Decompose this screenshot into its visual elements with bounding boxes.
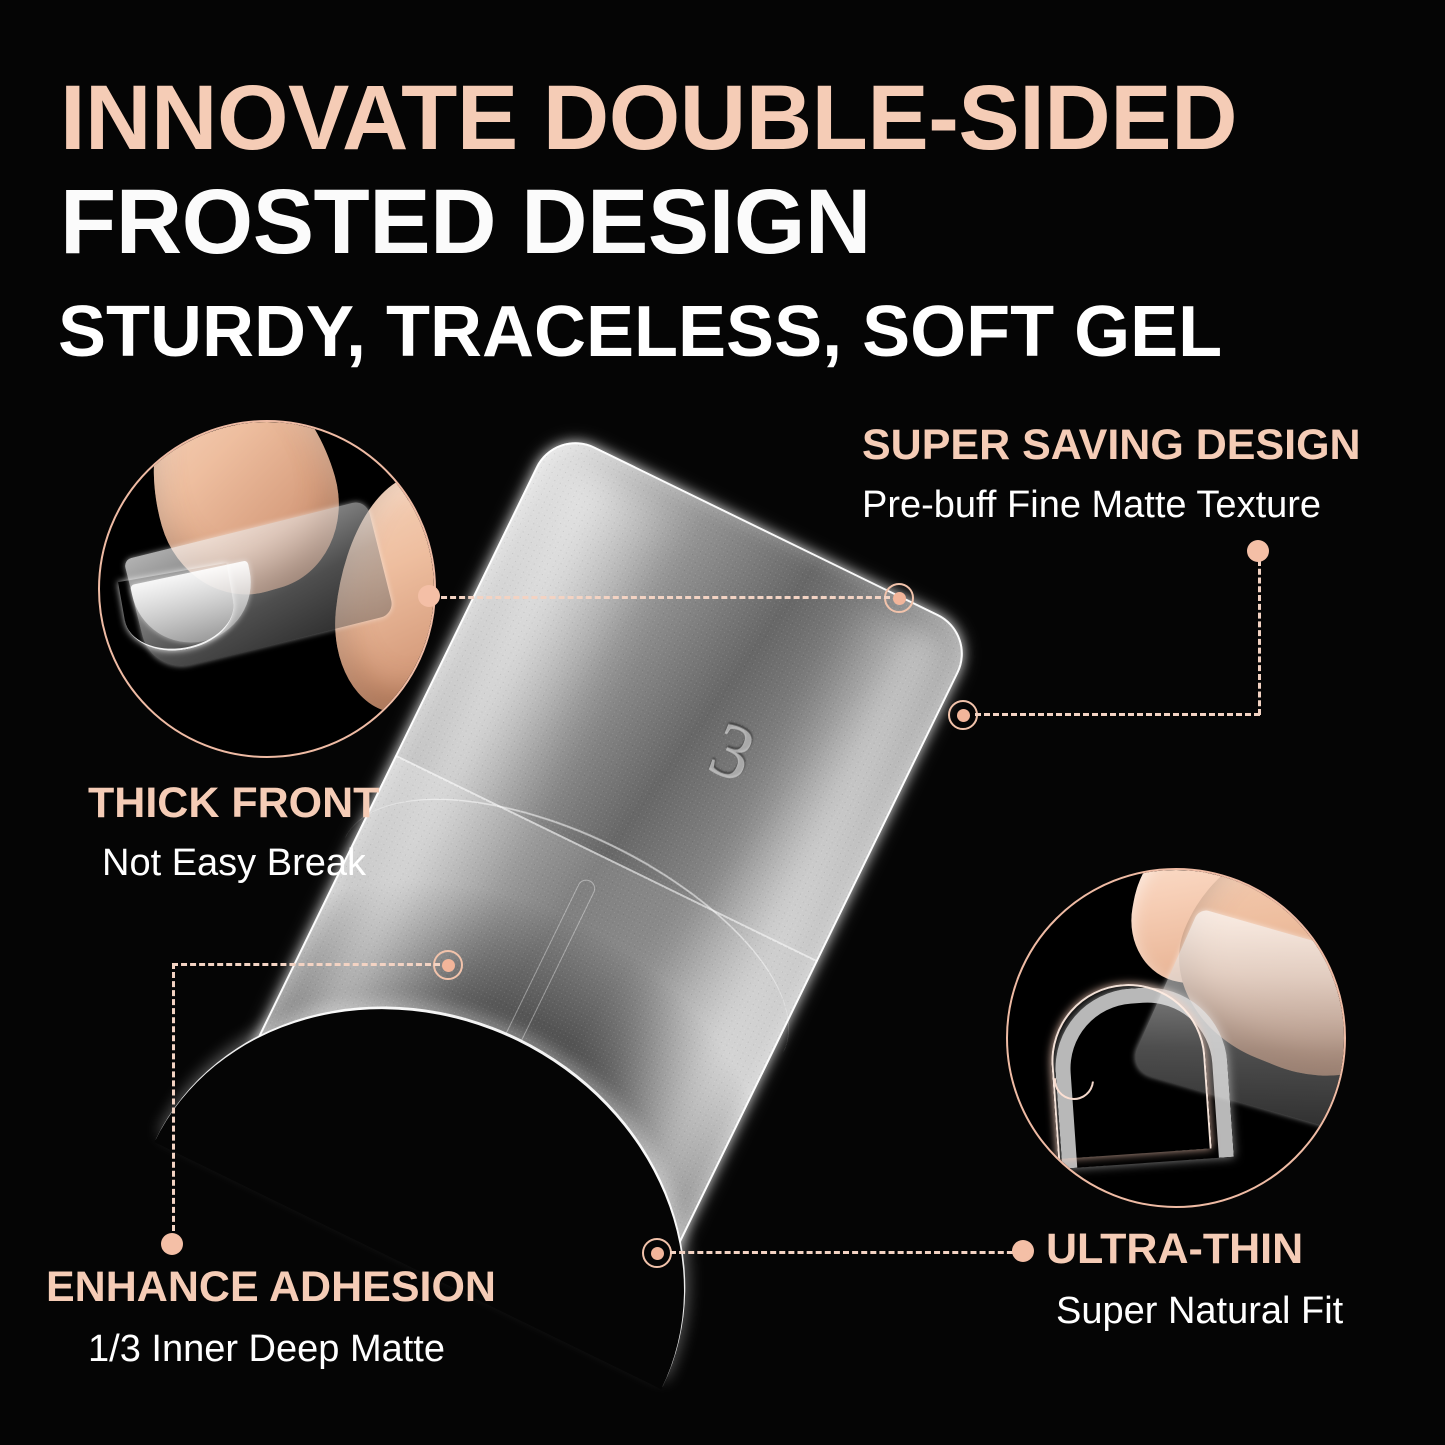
- inset-ultra-thin-photo: [1008, 870, 1344, 1206]
- inset-thick-front: [98, 420, 436, 758]
- callout-subtitle-ultra-thin: Super Natural Fit: [1056, 1292, 1343, 1330]
- callout-line-ultra-thin: [670, 1251, 1022, 1254]
- callout-subtitle-super-saving-design: Pre-buff Fine Matte Texture: [862, 486, 1321, 524]
- callout-subtitle-enhance-adhesion: 1/3 Inner Deep Matte: [88, 1330, 445, 1368]
- headline-line-2: FROSTED DESIGN: [0, 176, 1445, 268]
- callout-endpoint-ultra-thin: [1012, 1240, 1034, 1262]
- callout-anchor-ultra-thin: [642, 1238, 672, 1268]
- callout-title-super-saving-design: SUPER SAVING DESIGN: [862, 424, 1361, 467]
- infographic-canvas: INNOVATE DOUBLE-SIDED FROSTED DESIGN STU…: [0, 0, 1445, 1445]
- callout-line-thick-front: [432, 596, 890, 599]
- callout-endpoint-enhance-adhesion: [161, 1233, 183, 1255]
- headline-line-3: STURDY, TRACELESS, SOFT GEL: [0, 296, 1445, 368]
- callout-line-enhance-adhesion-v: [172, 963, 175, 1240]
- headline-line-1: INNOVATE DOUBLE-SIDED: [0, 72, 1445, 164]
- callout-title-enhance-adhesion: ENHANCE ADHESION: [46, 1266, 496, 1309]
- callout-endpoint-thick-front: [418, 585, 440, 607]
- callout-title-ultra-thin: ULTRA-THIN: [1046, 1228, 1303, 1271]
- inset-thick-front-photo: [100, 422, 434, 756]
- callout-title-thick-front: THICK FRONT: [88, 782, 379, 825]
- callout-subtitle-thick-front: Not Easy Break: [102, 844, 366, 882]
- callout-line-super-saving-v: [1258, 560, 1261, 715]
- callout-anchor-super-saving-design: [948, 700, 978, 730]
- callout-line-super-saving-h: [975, 713, 1260, 716]
- callout-line-enhance-adhesion-h: [172, 963, 440, 966]
- inset-ultra-thin: [1006, 868, 1346, 1208]
- callout-endpoint-super-saving-design: [1247, 540, 1269, 562]
